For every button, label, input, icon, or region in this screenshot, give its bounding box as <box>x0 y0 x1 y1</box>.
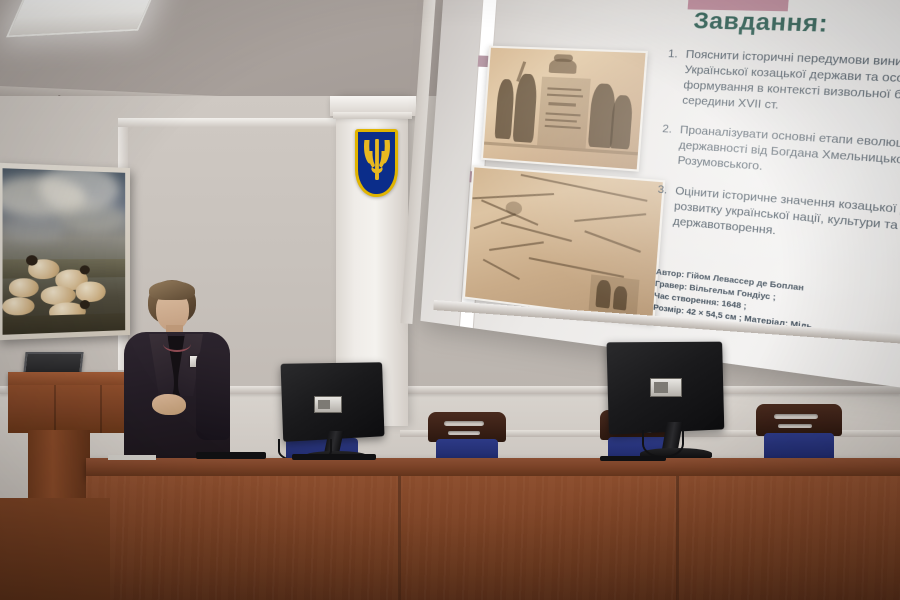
desk-left-return <box>0 498 110 600</box>
slide-title: Завдання: <box>693 8 829 38</box>
list-item-number: 3. <box>655 182 668 229</box>
desk-cable <box>600 456 666 461</box>
podium-panel-seam <box>100 385 102 433</box>
slide-image-antique-map <box>463 165 665 323</box>
chair-handle-slot <box>448 431 480 435</box>
podium-panel-seam <box>54 385 56 433</box>
list-item: 1. Пояснити історичні передумови виникне… <box>664 47 900 126</box>
chair <box>756 404 842 462</box>
presenter-arm-right <box>196 348 230 440</box>
chair-handle-slot <box>774 414 818 419</box>
lecture-hall-photo: Завдання: 1. Пояснити історичні передумо… <box>0 0 900 600</box>
desk-panel-seam <box>676 476 679 600</box>
monitor-left <box>282 363 392 468</box>
list-item-number: 2. <box>659 123 672 169</box>
slide-image-engraving-cartouche <box>481 46 648 172</box>
presenter-necklace <box>163 336 191 352</box>
desk-wood-grain <box>86 476 900 600</box>
list-item: 2. Проаналізувати основні етапи еволюції… <box>659 123 900 194</box>
chair-backrest <box>756 404 842 436</box>
monitor-right <box>608 342 734 468</box>
monitor-vesa-plate <box>314 396 342 413</box>
chair-handle-slot <box>778 424 812 428</box>
presenter-hands <box>152 394 186 415</box>
desk-keyboard <box>292 454 376 460</box>
ceiling-light-panel <box>6 0 159 37</box>
list-item-text: Пояснити історичні передумови виникнення… <box>682 48 900 127</box>
list-item-text: Проаналізувати основні етапи еволюції ко… <box>677 124 900 194</box>
desk-panel-seam <box>398 476 401 600</box>
wall-molding-horizontal <box>118 118 340 127</box>
tryzub-icon <box>362 137 392 185</box>
monitor-cable <box>642 430 684 458</box>
list-item: 3. Оцінити історичне значення козацької … <box>655 182 900 259</box>
desk-front-panel <box>86 476 900 600</box>
chair-handle-slot <box>444 421 484 426</box>
monitor-vesa-plate <box>650 378 682 397</box>
wall-painting <box>0 163 130 341</box>
desk-cable <box>196 452 266 459</box>
presenter-fringe <box>149 281 195 300</box>
list-item-text: Оцінити історичне значення козацької дер… <box>672 184 900 260</box>
list-item-number: 1. <box>664 47 678 109</box>
ukrainian-coat-of-arms <box>355 129 398 197</box>
slide-task-list: 1. Пояснити історичні передумови виникне… <box>654 47 900 275</box>
pilaster-capital-band <box>333 112 412 119</box>
chair <box>428 412 506 464</box>
presenter <box>118 280 236 480</box>
desk-surface <box>86 458 900 478</box>
desk-paper <box>108 455 156 460</box>
painting-canvas <box>3 168 126 335</box>
chair-backrest <box>428 412 506 442</box>
